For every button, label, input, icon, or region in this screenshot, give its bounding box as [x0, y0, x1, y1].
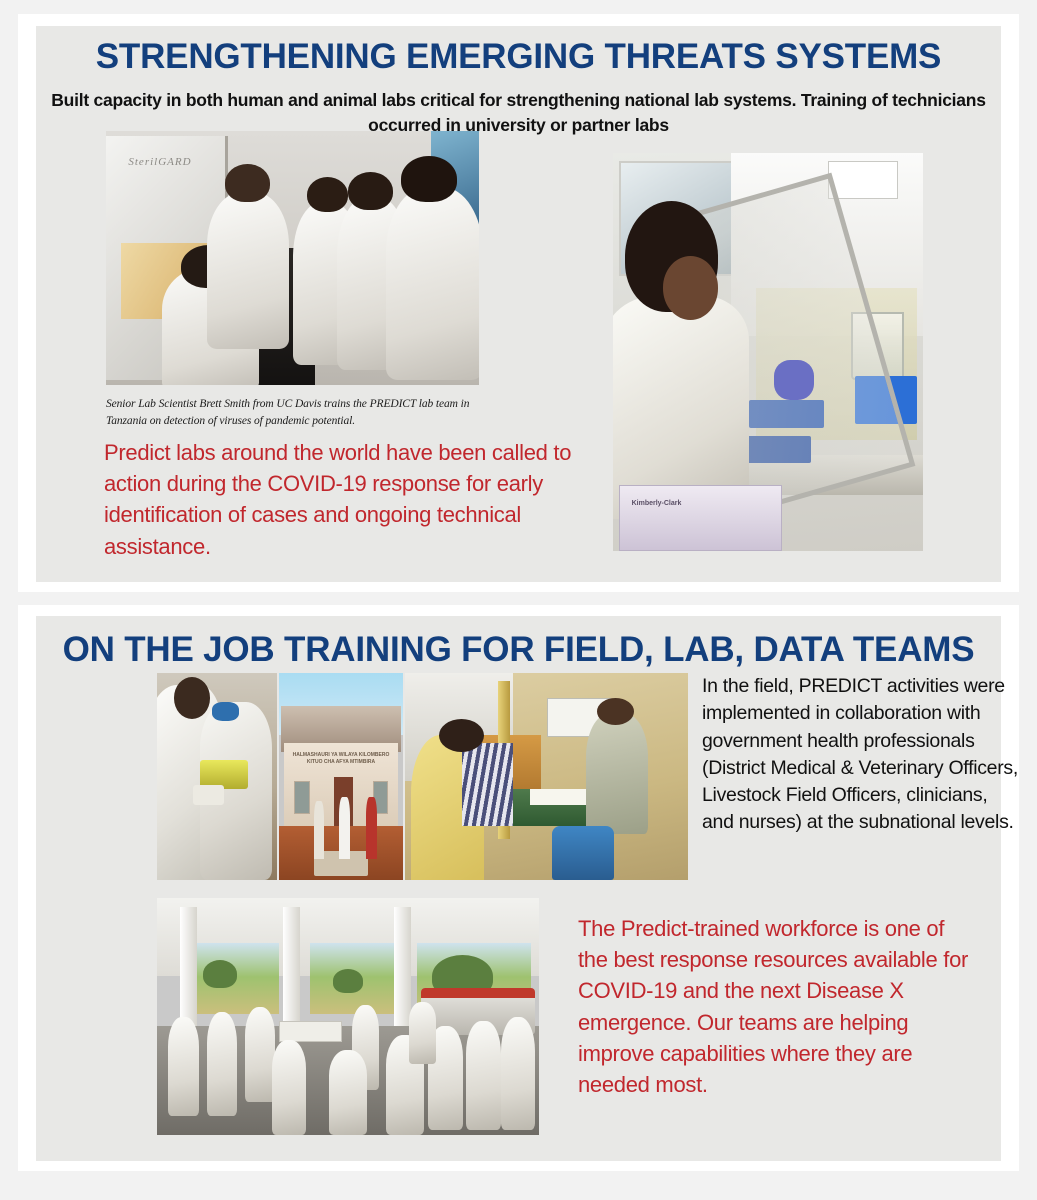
panel-two-field-text: In the field, PREDICT activities were im… [702, 673, 1020, 837]
panel-two-workforce-text: The Predict-trained workforce is one of … [578, 913, 978, 1100]
health-center-photo: HALMASHAURI YA WILAYA KILOMBERO KITUO CH… [279, 673, 403, 880]
panel-two-title: ON THE JOB TRAINING FOR FIELD, LAB, DATA… [36, 632, 1001, 669]
glove-box-label: Kimberly-Clark [632, 500, 682, 507]
lab-training-photo: SterilGARD [106, 131, 479, 385]
panel-one-body-text: Predict labs around the world have been … [104, 437, 574, 562]
health-center-sign: HALMASHAURI YA WILAYA KILOMBERO KITUO CH… [291, 752, 390, 767]
ppe-training-class-photo [157, 898, 539, 1135]
data-collection-interview-photo [405, 673, 688, 880]
panel-one-title: STRENGTHENING EMERGING THREATS SYSTEMS [36, 39, 1001, 76]
lab-photo-caption: Senior Lab Scientist Brett Smith from UC… [106, 396, 486, 430]
biosafety-cabinet-label: SterilGARD [128, 156, 191, 168]
ppe-fieldwork-photo [157, 673, 277, 880]
technician-pipetting-photo: Kimberly-Clark [613, 153, 923, 551]
infographic-page: STRENGTHENING EMERGING THREATS SYSTEMS B… [0, 0, 1037, 1200]
